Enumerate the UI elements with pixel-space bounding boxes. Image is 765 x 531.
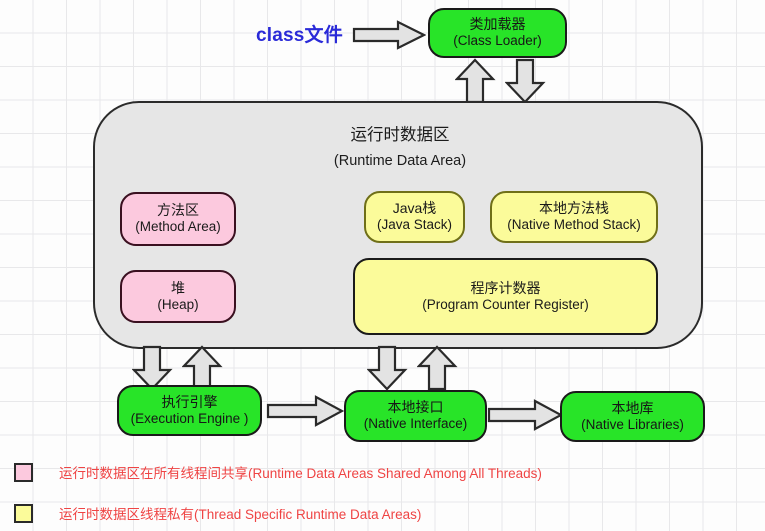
legend-label-shared: 运行时数据区在所有线程间共享(Runtime Data Areas Shared… — [59, 462, 542, 482]
node-native-interface-en: (Native Interface) — [364, 416, 468, 432]
node-java-stack-zh: Java栈 — [393, 200, 437, 217]
node-native-libraries-en: (Native Libraries) — [581, 417, 684, 433]
runtime-title-zh: 运行时数据区 — [95, 121, 705, 145]
node-heap[interactable]: 堆 (Heap) — [120, 270, 236, 323]
node-execution-engine-zh: 执行引擎 — [162, 394, 218, 411]
legend-label-thread-private: 运行时数据区线程私有(Thread Specific Runtime Data … — [59, 503, 421, 523]
node-class-loader-zh: 类加载器 — [470, 16, 526, 33]
node-native-libraries-zh: 本地库 — [612, 400, 654, 417]
arrow-right-engine-to-native-icon — [266, 394, 344, 433]
diagram-canvas: class文件 类加载器 (Class Loader) 运行时数据区 (Runt… — [0, 0, 765, 531]
node-program-counter-register[interactable]: 程序计数器 (Program Counter Register) — [353, 258, 658, 335]
node-java-stack-en: (Java Stack) — [377, 217, 452, 233]
class-file-label: class文件 — [256, 20, 343, 47]
node-execution-engine[interactable]: 执行引擎 (Execution Engine ) — [117, 385, 262, 436]
node-native-method-stack[interactable]: 本地方法栈 (Native Method Stack) — [490, 191, 658, 243]
arrow-down-native-interface-icon — [367, 345, 409, 396]
node-native-method-stack-en: (Native Method Stack) — [507, 217, 641, 233]
arrow-up-native-interface-icon — [417, 345, 459, 396]
arrow-right-class-to-loader-icon — [352, 20, 426, 55]
node-program-counter-en: (Program Counter Register) — [422, 297, 589, 313]
node-method-area[interactable]: 方法区 (Method Area) — [120, 192, 236, 246]
node-heap-zh: 堆 — [171, 280, 185, 297]
arrow-right-native-to-lib-icon — [487, 398, 563, 437]
legend-swatch-thread-private — [14, 504, 33, 523]
node-program-counter-zh: 程序计数器 — [471, 280, 541, 297]
node-java-stack[interactable]: Java栈 (Java Stack) — [364, 191, 465, 243]
node-native-libraries[interactable]: 本地库 (Native Libraries) — [560, 391, 705, 442]
node-heap-en: (Heap) — [157, 297, 198, 313]
node-execution-engine-en: (Execution Engine ) — [131, 411, 249, 427]
node-class-loader-en: (Class Loader) — [453, 33, 542, 49]
node-method-area-zh: 方法区 — [157, 202, 199, 219]
node-native-method-stack-zh: 本地方法栈 — [539, 200, 609, 217]
node-native-interface[interactable]: 本地接口 (Native Interface) — [344, 390, 487, 442]
runtime-title-en: (Runtime Data Area) — [95, 153, 705, 169]
legend-row-thread-private: 运行时数据区线程私有(Thread Specific Runtime Data … — [14, 503, 421, 523]
node-native-interface-zh: 本地接口 — [388, 399, 444, 416]
runtime-data-area-title: 运行时数据区 (Runtime Data Area) — [95, 121, 705, 169]
legend-row-shared: 运行时数据区在所有线程间共享(Runtime Data Areas Shared… — [14, 462, 542, 482]
node-class-loader[interactable]: 类加载器 (Class Loader) — [428, 8, 567, 58]
node-method-area-en: (Method Area) — [135, 219, 221, 235]
legend-swatch-shared — [14, 463, 33, 482]
